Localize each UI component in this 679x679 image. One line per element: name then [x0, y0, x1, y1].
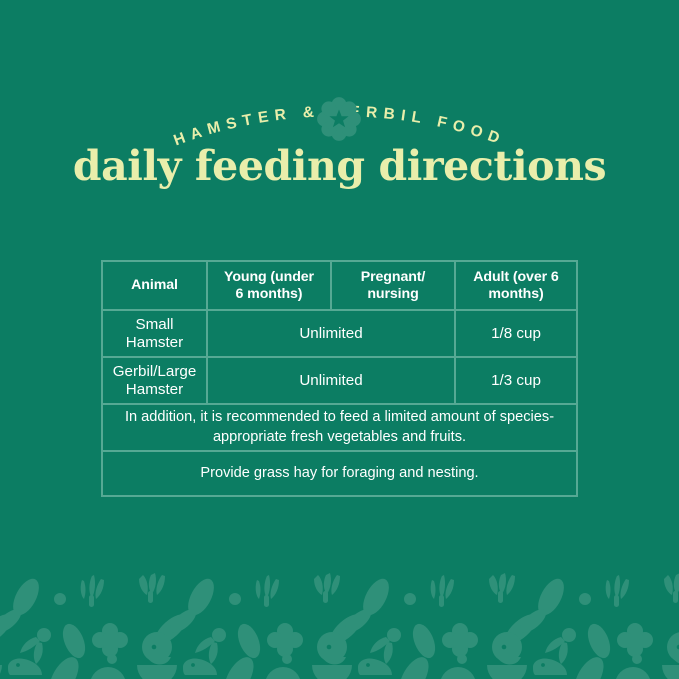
cell-young-pregnant-gerbil-large-hamster: Unlimited [206, 358, 454, 403]
column-header-adult: Adult (over 6 months) [454, 262, 576, 309]
cell-adult-gerbil-large-hamster: 1/3 cup [454, 358, 576, 403]
note-text-grass-hay: Provide grass hay for foraging and nesti… [103, 452, 576, 495]
table-note-row: In addition, it is recommended to feed a… [103, 403, 576, 450]
cell-animal-small-hamster: Small Hamster [103, 311, 206, 356]
poster-canvas: HAMSTER & GERBIL FOOD daily feeding dire… [0, 0, 679, 679]
rosette-icon [316, 96, 362, 142]
table-header-row: Animal Young (under 6 months) Pregnant/ … [103, 262, 576, 309]
note-text-vegetables: In addition, it is recommended to feed a… [103, 405, 576, 450]
cell-adult-small-hamster: 1/8 cup [454, 311, 576, 356]
page-title: daily feeding directions [0, 143, 679, 190]
botanical-rabbit-pattern [0, 567, 679, 679]
column-header-animal: Animal [103, 262, 206, 309]
cell-young-pregnant-small-hamster: Unlimited [206, 311, 454, 356]
cell-animal-gerbil-large-hamster: Gerbil/Large Hamster [103, 358, 206, 403]
table-note-row: Provide grass hay for foraging and nesti… [103, 450, 576, 495]
table-row: Gerbil/Large Hamster Unlimited 1/3 cup [103, 356, 576, 403]
column-header-pregnant: Pregnant/ nursing [330, 262, 454, 309]
feeding-directions-table: Animal Young (under 6 months) Pregnant/ … [101, 260, 578, 497]
table-row: Small Hamster Unlimited 1/8 cup [103, 309, 576, 356]
column-header-young: Young (under 6 months) [206, 262, 330, 309]
